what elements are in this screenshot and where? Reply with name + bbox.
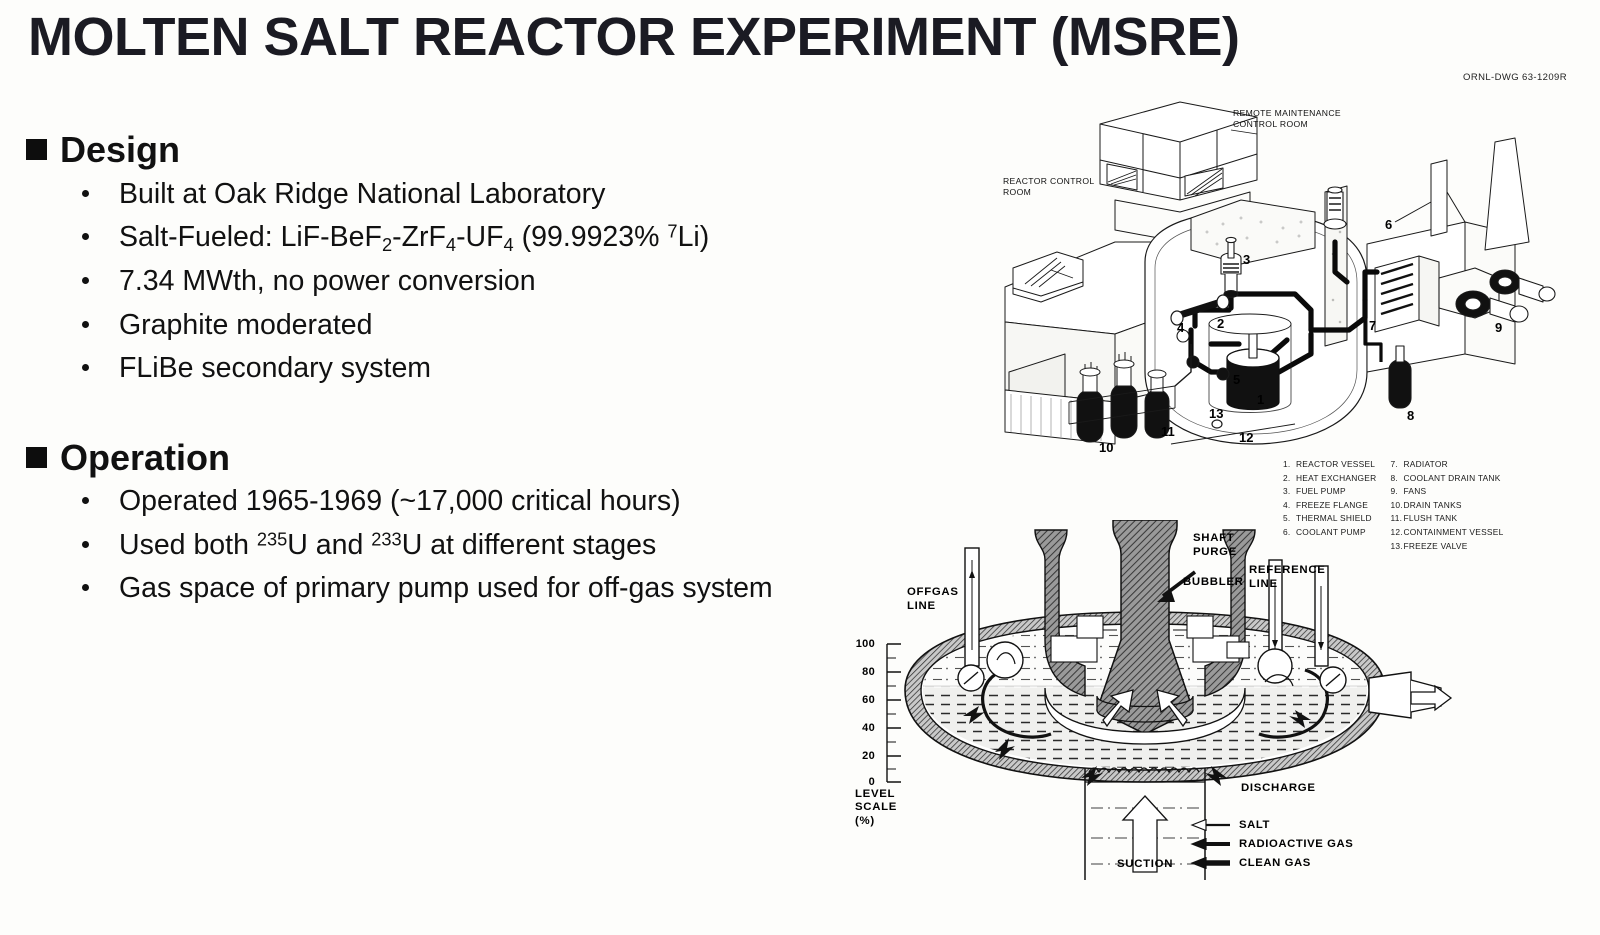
list-item: FLiBe secondary system [26,350,906,386]
msre-cutaway-figure: ORNL-DWG 63-1209R [995,72,1585,542]
bullet-list-operation: Operated 1965-1969 (~17,000 critical hou… [26,483,906,606]
callout-6: 6 [1385,217,1392,232]
section-operation: Operation Operated 1965-1969 (~17,000 cr… [26,438,906,607]
bullet-dot-icon [82,321,89,328]
section-spacer [26,394,906,438]
list-item: Built at Oak Ridge National Laboratory [26,176,906,212]
callout-10: 10 [1099,440,1113,455]
legend-item: 4.FREEZE FLANGE [1283,499,1376,513]
label-shaft-purge: SHAFT PURGE [1193,532,1237,559]
list-item: Operated 1965-1969 (~17,000 critical hou… [26,483,906,519]
section-design: Design Built at Oak Ridge National Labor… [26,130,906,387]
flow-legend-item: SALT [1190,815,1353,834]
flow-legend-label: CLEAN GAS [1239,857,1311,869]
drawing-number: ORNL-DWG 63-1209R [1463,72,1567,83]
bullet-dot-icon [82,190,89,197]
list-item: Graphite moderated [26,307,906,343]
callout-13: 13 [1209,406,1223,421]
level-tick-0: 0 [849,776,875,788]
bullet-text: Gas space of primary pump used for off-g… [119,570,773,606]
bullet-text: Graphite moderated [119,307,372,343]
section-heading-operation: Operation [26,438,906,478]
callout-7: 7 [1369,318,1376,333]
label-discharge: DISCHARGE [1241,782,1316,796]
bullet-text: Built at Oak Ridge National Laboratory [119,176,605,212]
square-bullet-icon [26,139,47,160]
callout-8: 8 [1407,408,1414,423]
list-item: 7.34 MWth, no power conversion [26,263,906,299]
list-item: Gas space of primary pump used for off-g… [26,570,906,606]
section-heading-design: Design [26,130,906,170]
content-body: Design Built at Oak Ridge National Labor… [26,130,906,614]
label-bubbler: BUBBLER [1183,576,1244,590]
list-item: Salt-Fueled: LiF-BeF2-ZrF4-UF4 (99.9923%… [26,219,906,256]
bullet-dot-icon [82,497,89,504]
callout-1: 1 [1257,392,1264,407]
label-offgas-line: OFFGAS LINE [907,586,959,613]
bullet-text: Operated 1965-1969 (~17,000 critical hou… [119,483,681,519]
callout-4: 4 [1177,320,1184,335]
bullet-text: FLiBe secondary system [119,350,431,386]
legend-item: 1.REACTOR VESSEL [1283,458,1376,472]
flow-arrow-icon [1190,819,1230,831]
label-suction: SUCTION [1117,858,1173,872]
callout-11: 11 [1161,424,1175,439]
legend-item: 2.HEAT EXCHANGER [1283,472,1376,486]
bullet-dot-icon [82,584,89,591]
label-reactor-control-room: REACTOR CONTROL ROOM [1003,176,1095,197]
legend-item: 7.RADIATOR [1390,458,1503,472]
callout-9: 9 [1495,320,1502,335]
section-title: Operation [60,438,230,478]
flow-legend-label: SALT [1239,819,1270,831]
level-tick-60: 60 [849,694,875,706]
slide-canvas: MOLTEN SALT REACTOR EXPERIMENT (MSRE) De… [0,0,1600,935]
bullet-text-formula: Salt-Fueled: LiF-BeF2-ZrF4-UF4 (99.9923%… [119,219,709,256]
fuel-pump-section-figure: SHAFT PURGE OFFGAS LINE BUBBLER REFERENC… [845,520,1465,920]
label-remote-maintenance-control-room: REMOTE MAINTENANCE CONTROL ROOM [1233,108,1341,129]
page-title: MOLTEN SALT REACTOR EXPERIMENT (MSRE) [28,6,1308,68]
bullet-dot-icon [82,364,89,371]
legend-item: 8.COOLANT DRAIN TANK [1390,472,1503,486]
legend-item: 9.FANS [1390,485,1503,499]
callout-3: 3 [1243,252,1250,267]
bullet-text-isotopes: Used both 235U and 233U at different sta… [119,527,656,563]
list-item: Used both 235U and 233U at different sta… [26,527,906,563]
bullet-text: 7.34 MWth, no power conversion [119,263,536,299]
flow-legend-label: RADIOACTIVE GAS [1239,838,1353,850]
flow-arrow-icon [1190,838,1230,850]
bullet-list-design: Built at Oak Ridge National Laboratory S… [26,176,906,387]
flow-legend-item: RADIOACTIVE GAS [1190,834,1353,853]
label-level-scale: LEVEL SCALE (%) [855,788,897,828]
level-tick-80: 80 [849,666,875,678]
level-tick-40: 40 [849,722,875,734]
callout-12: 12 [1239,430,1253,445]
flow-legend-item: CLEAN GAS [1190,853,1353,872]
bullet-dot-icon [82,277,89,284]
level-tick-20: 20 [849,750,875,762]
square-bullet-icon [26,447,47,468]
flow-legend: SALTRADIOACTIVE GASCLEAN GAS [1190,815,1353,872]
level-tick-100: 100 [849,638,875,650]
legend-item: 10.DRAIN TANKS [1390,499,1503,513]
callout-5: 5 [1233,372,1240,387]
callout-2: 2 [1217,316,1224,331]
legend-item: 3.FUEL PUMP [1283,485,1376,499]
section-title: Design [60,130,180,170]
bullet-dot-icon [82,541,89,548]
flow-arrow-icon [1190,857,1230,869]
label-reference-line: REFERENCE LINE [1249,564,1326,591]
bullet-dot-icon [82,233,89,240]
